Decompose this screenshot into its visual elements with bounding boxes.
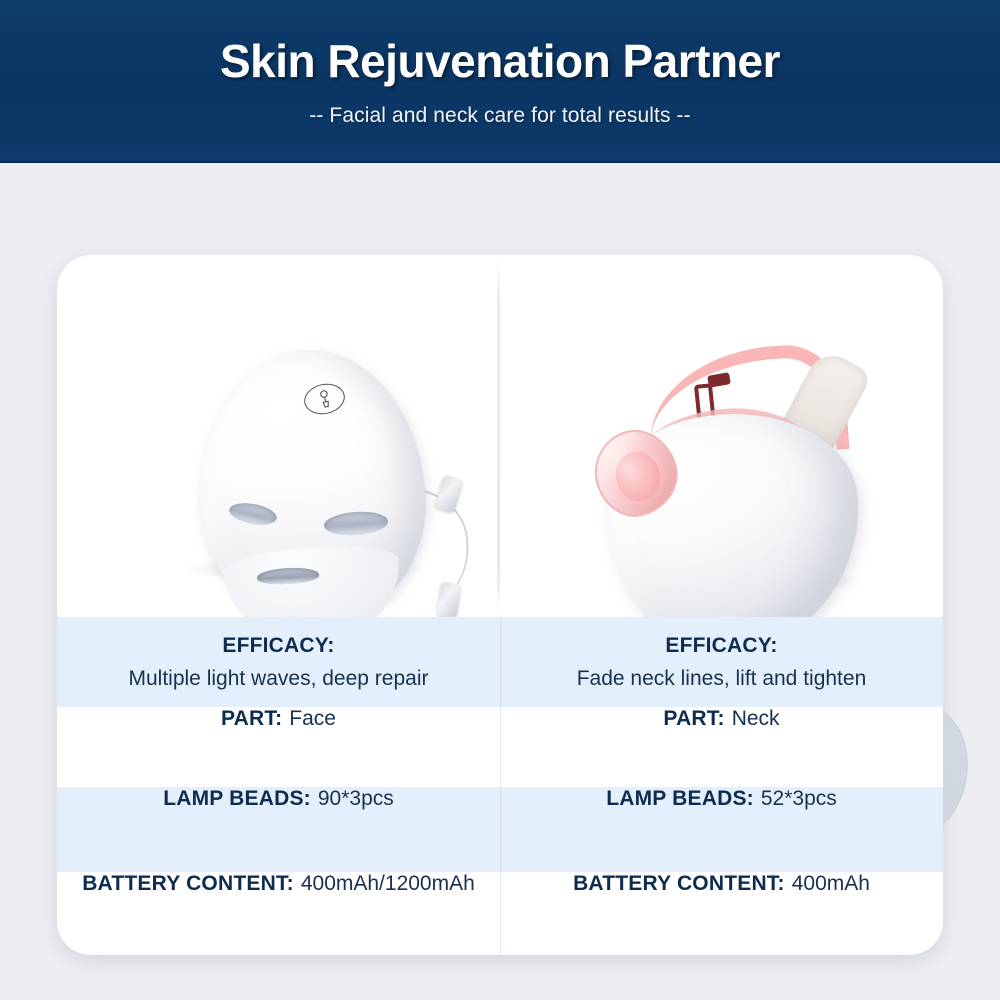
table-row: LAMP BEADS: 90*3pcs LAMP BEADS: 52*3pcs bbox=[57, 787, 943, 872]
spec-label: LAMP BEADS: bbox=[606, 787, 754, 811]
table-row: EFFICACY: Multiple light waves, deep rep… bbox=[57, 617, 943, 707]
spec-value: 90*3pcs bbox=[318, 787, 394, 811]
spec-value: 400mAh/1200mAh bbox=[301, 872, 475, 896]
spec-label: LAMP BEADS: bbox=[163, 787, 311, 811]
spec-cell-lamp-beads-face: LAMP BEADS: 90*3pcs bbox=[57, 787, 500, 872]
spec-label: EFFICACY: bbox=[222, 634, 334, 658]
header-banner: Skin Rejuvenation Partner -- Facial and … bbox=[0, 0, 1000, 163]
touch-power-glyph bbox=[316, 388, 334, 410]
face-mask-strap-clip-upper bbox=[435, 475, 464, 513]
spec-label: PART: bbox=[221, 707, 282, 731]
neck-device-illustration bbox=[500, 168, 943, 617]
page-title: Skin Rejuvenation Partner bbox=[220, 37, 780, 85]
spec-value: Face bbox=[289, 707, 336, 731]
product-infographic-page: Skin Rejuvenation Partner -- Facial and … bbox=[0, 0, 1000, 1000]
table-row: PART: Face PART: Neck bbox=[57, 707, 943, 787]
spec-value: 400mAh bbox=[792, 872, 870, 896]
spec-cell-efficacy-neck: EFFICACY: Fade neck lines, lift and tigh… bbox=[500, 617, 943, 707]
column-divider bbox=[497, 258, 500, 615]
table-row: BATTERY CONTENT: 400mAh/1200mAh BATTERY … bbox=[57, 872, 943, 955]
spec-value: Neck bbox=[732, 707, 780, 731]
spec-label: EFFICACY: bbox=[665, 634, 777, 658]
spec-label: BATTERY CONTENT: bbox=[573, 872, 785, 896]
spec-table: EFFICACY: Multiple light waves, deep rep… bbox=[57, 617, 943, 955]
product-image-band bbox=[57, 168, 943, 617]
page-subtitle: -- Facial and neck care for total result… bbox=[309, 104, 690, 128]
spec-cell-efficacy-face: EFFICACY: Multiple light waves, deep rep… bbox=[57, 617, 500, 707]
product-image-face-mask bbox=[57, 168, 500, 617]
face-mask-illustration bbox=[57, 168, 500, 617]
spec-cell-part-face: PART: Face bbox=[57, 707, 500, 787]
spec-cell-battery-neck: BATTERY CONTENT: 400mAh bbox=[500, 872, 943, 955]
spec-cell-battery-face: BATTERY CONTENT: 400mAh/1200mAh bbox=[57, 872, 500, 955]
spec-cell-part-neck: PART: Neck bbox=[500, 707, 943, 787]
product-image-neck-device bbox=[500, 168, 943, 617]
spec-value: 52*3pcs bbox=[761, 787, 837, 811]
spec-label: BATTERY CONTENT: bbox=[82, 872, 294, 896]
spec-label: PART: bbox=[663, 707, 724, 731]
spec-value: Multiple light waves, deep repair bbox=[129, 667, 429, 691]
face-mask-strap-clip-lower bbox=[437, 582, 462, 618]
neck-device-ear-pod-core bbox=[610, 446, 667, 507]
spec-cell-lamp-beads-neck: LAMP BEADS: 52*3pcs bbox=[500, 787, 943, 872]
spec-value: Fade neck lines, lift and tighten bbox=[577, 667, 867, 691]
